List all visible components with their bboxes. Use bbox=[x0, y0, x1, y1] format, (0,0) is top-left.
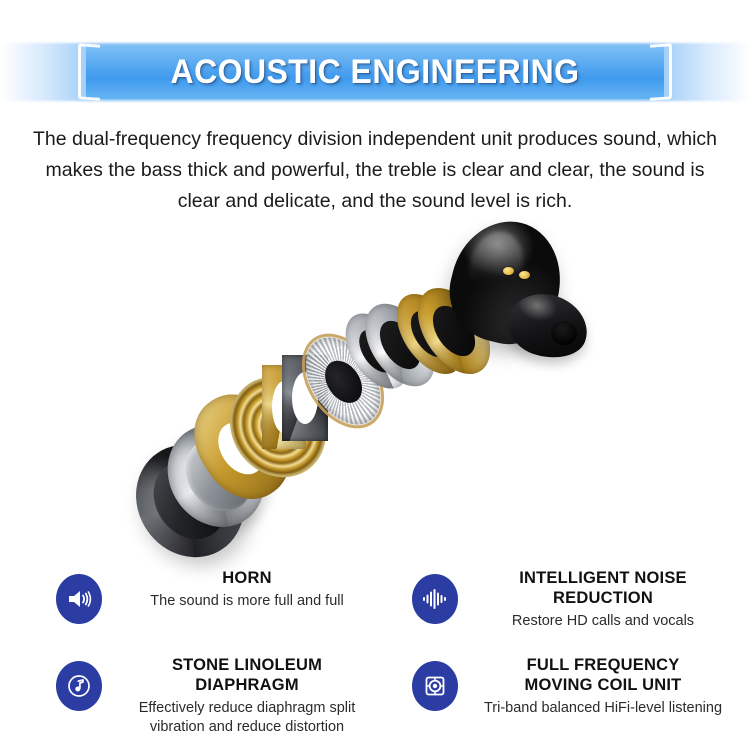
page-title: ACOUSTIC ENGINEERING bbox=[103, 45, 646, 99]
feature-subtitle: Effectively reduce diaphragm split vibra… bbox=[108, 699, 386, 737]
feature-subtitle: The sound is more full and full bbox=[108, 592, 386, 611]
feature-item-moving-coil: FULL FREQUENCY MOVING COIL UNIT Tri-band… bbox=[412, 655, 742, 718]
product-illustration bbox=[0, 205, 750, 560]
feature-text-block: FULL FREQUENCY MOVING COIL UNIT Tri-band… bbox=[458, 655, 742, 718]
banner-bracket-right-icon bbox=[650, 43, 672, 101]
feature-text-block: INTELLIGENT NOISE REDUCTION Restore HD c… bbox=[458, 568, 742, 631]
feature-subtitle: Tri-band balanced HiFi-level listening bbox=[464, 699, 742, 718]
description-paragraph: The dual-frequency frequency division in… bbox=[28, 124, 722, 217]
feature-item-diaphragm: STONE LINOLEUM DIAPHRAGM Effectively red… bbox=[56, 655, 386, 737]
feature-grid: HORN The sound is more full and full bbox=[0, 560, 750, 750]
driver-target-icon bbox=[412, 661, 458, 711]
feature-item-noise-reduction: INTELLIGENT NOISE REDUCTION Restore HD c… bbox=[412, 568, 742, 631]
feature-subtitle: Restore HD calls and vocals bbox=[464, 612, 742, 631]
header-banner: ACOUSTIC ENGINEERING bbox=[0, 43, 750, 101]
infographic-page: ACOUSTIC ENGINEERING The dual-frequency … bbox=[0, 0, 750, 750]
charging-contact-1 bbox=[503, 267, 514, 275]
feature-item-horn: HORN The sound is more full and full bbox=[56, 568, 386, 624]
feature-text-block: STONE LINOLEUM DIAPHRAGM Effectively red… bbox=[102, 655, 386, 737]
audio-waveform-icon bbox=[412, 574, 458, 624]
music-note-icon bbox=[56, 661, 102, 711]
feature-title: FULL FREQUENCY MOVING COIL UNIT bbox=[464, 655, 742, 695]
feature-title: INTELLIGENT NOISE REDUCTION bbox=[464, 568, 742, 608]
feature-text-block: HORN The sound is more full and full bbox=[102, 568, 386, 611]
feature-title: HORN bbox=[108, 568, 386, 588]
charging-contact-2 bbox=[519, 271, 530, 279]
banner-bracket-left-icon bbox=[78, 43, 100, 101]
feature-title: STONE LINOLEUM DIAPHRAGM bbox=[108, 655, 386, 695]
speaker-waves-icon bbox=[56, 574, 102, 624]
